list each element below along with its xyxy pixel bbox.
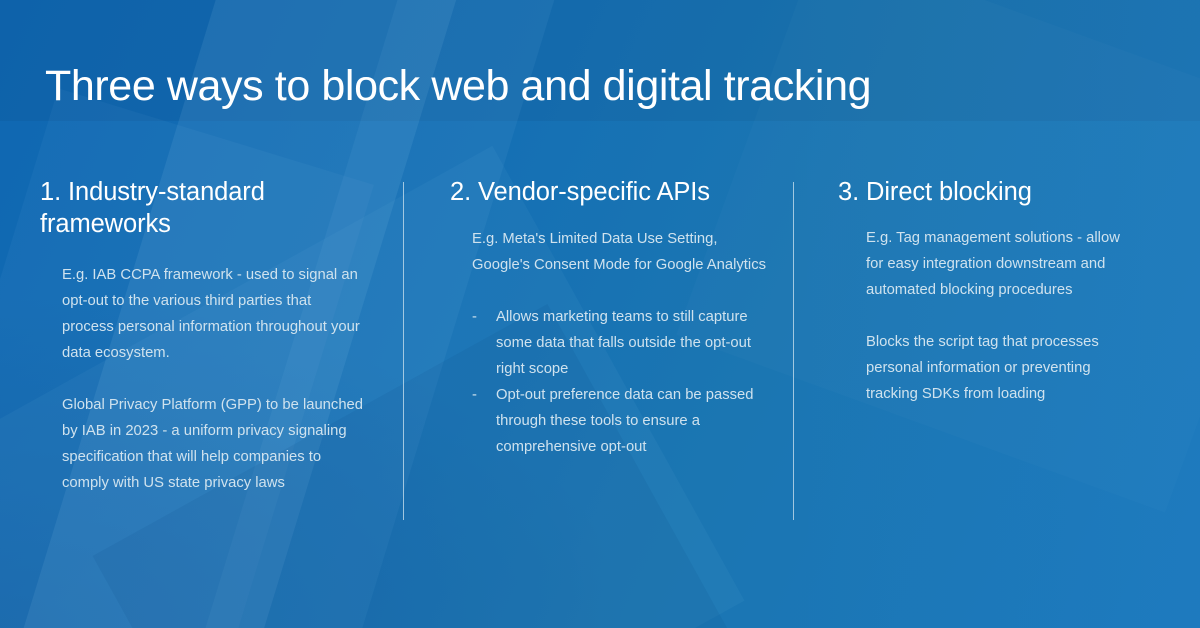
bullet-dash-icon: - (472, 382, 477, 408)
column-2-bullet-1-text: Allows marketing teams to still capture … (496, 309, 751, 377)
column-2-body: E.g. Meta's Limited Data Use Setting, Go… (450, 226, 770, 460)
column-3-heading: 3. Direct blocking (838, 176, 1148, 208)
column-3-paragraph-2: Blocks the script tag that processes per… (866, 329, 1133, 407)
slide-canvas: Three ways to block web and digital trac… (0, 0, 1200, 628)
column-3-paragraph-1: E.g. Tag management solutions - allow fo… (866, 225, 1133, 303)
column-vendor-specific-apis: 2. Vendor-specific APIs E.g. Meta's Limi… (450, 176, 780, 460)
page-title: Three ways to block web and digital trac… (45, 62, 871, 111)
list-item: - Opt-out preference data can be passed … (472, 382, 770, 460)
column-divider-1 (403, 182, 404, 520)
list-item: - Allows marketing teams to still captur… (472, 304, 770, 382)
column-direct-blocking: 3. Direct blocking E.g. Tag management s… (838, 176, 1148, 407)
column-2-heading: 2. Vendor-specific APIs (450, 176, 780, 208)
column-1-paragraph-2: Global Privacy Platform (GPP) to be laun… (62, 392, 365, 496)
column-1-heading: 1. Industry-standard frameworks (40, 176, 370, 240)
column-2-paragraph-1: E.g. Meta's Limited Data Use Setting, Go… (472, 226, 770, 278)
column-divider-2 (793, 182, 794, 520)
column-3-body: E.g. Tag management solutions - allow fo… (838, 225, 1133, 407)
column-1-paragraph-1: E.g. IAB CCPA framework - used to signal… (62, 262, 365, 366)
column-2-bullet-2-text: Opt-out preference data can be passed th… (496, 387, 753, 455)
column-industry-standard-frameworks: 1. Industry-standard frameworks E.g. IAB… (40, 176, 370, 497)
column-1-body: E.g. IAB CCPA framework - used to signal… (40, 262, 365, 496)
bullet-dash-icon: - (472, 304, 477, 330)
column-2-bullet-list: - Allows marketing teams to still captur… (472, 304, 770, 460)
